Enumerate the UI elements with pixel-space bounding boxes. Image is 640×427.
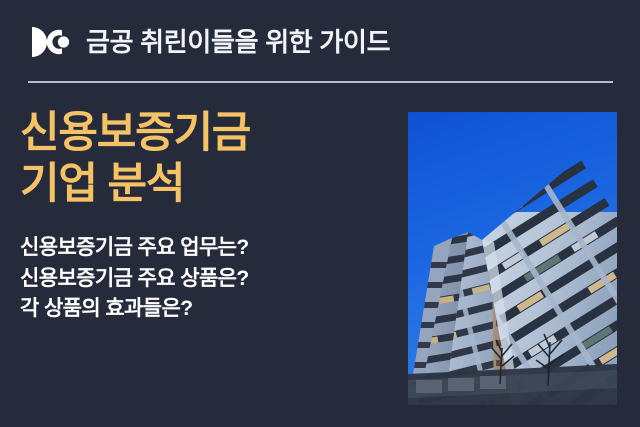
header-divider [28, 81, 613, 83]
bullet-item-3: 각 상품의 효과들은? [20, 294, 395, 324]
left-content-column: 신용보증기금 기업 분석 신용보증기금 주요 업무는? 신용보증기금 주요 상품… [20, 108, 395, 325]
brand-logo-icon [28, 25, 70, 59]
bullet-item-2: 신용보증기금 주요 상품은? [20, 264, 395, 294]
building-photo [408, 112, 617, 405]
header: 금공 취린이들을 위한 가이드 [28, 18, 613, 66]
guide-card: 금공 취린이들을 위한 가이드 신용보증기금 기업 분석 신용보증기금 주요 업… [0, 0, 640, 427]
page-title: 신용보증기금 기업 분석 [20, 108, 395, 209]
bullet-list: 신용보증기금 주요 업무는? 신용보증기금 주요 상품은? 각 상품의 효과들은… [20, 233, 395, 324]
header-title: 금공 취린이들을 위한 가이드 [86, 29, 390, 55]
building-photo-illustration [408, 112, 617, 405]
headline-line-2: 기업 분석 [20, 159, 395, 210]
headline-line-1: 신용보증기금 [20, 108, 395, 159]
bullet-item-1: 신용보증기금 주요 업무는? [20, 233, 395, 263]
